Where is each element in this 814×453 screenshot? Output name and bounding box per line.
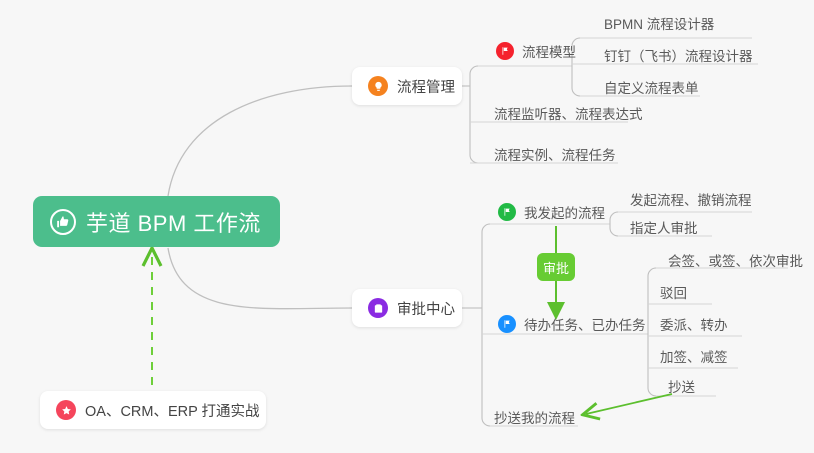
node-reject[interactable]: 驳回 <box>654 278 695 306</box>
connector-root-to-process-management <box>168 86 352 196</box>
node-label-start-cancel-process: 发起流程、撤销流程 <box>630 189 752 209</box>
bottom-note-label: OA、CRM、ERP 打通实战 <box>85 400 260 421</box>
branch-label-approval-center: 审批中心 <box>397 298 455 319</box>
node-bpmn-designer[interactable]: BPMN 流程设计器 <box>598 9 722 37</box>
node-cc[interactable]: 抄送 <box>662 372 703 400</box>
branch-label-process-management: 流程管理 <box>397 76 455 97</box>
node-label-delegate-transfer: 委派、转办 <box>660 314 728 334</box>
node-start-cancel-process[interactable]: 发起流程、撤销流程 <box>624 185 760 213</box>
node-dingtalk-designer[interactable]: 钉钉（飞书）流程设计器 <box>598 41 761 69</box>
node-label-bpmn-designer: BPMN 流程设计器 <box>604 13 714 33</box>
node-label-cc-my-process: 抄送我的流程 <box>494 407 575 427</box>
node-label-todo-done-tasks: 待办任务、已办任务 <box>524 314 646 334</box>
node-countersign[interactable]: 会签、或签、依次审批 <box>662 246 811 274</box>
node-label-dingtalk-designer: 钉钉（飞书）流程设计器 <box>604 45 753 65</box>
node-custom-form[interactable]: 自定义流程表单 <box>598 73 707 101</box>
node-label-process-instance: 流程实例、流程任务 <box>494 144 616 164</box>
approval-badge-label: 审批 <box>543 258 569 277</box>
flag-icon <box>496 42 514 60</box>
mindmap-canvas: 芋道 BPM 工作流 流程管理 审批中心 流程模型 BPMN 流程设计器 <box>0 0 814 453</box>
bottom-note-card[interactable]: OA、CRM、ERP 打通实战 <box>40 391 266 429</box>
connector-ac-spine <box>482 224 490 426</box>
node-assignee-approve[interactable]: 指定人审批 <box>624 213 706 241</box>
approval-badge[interactable]: 审批 <box>537 253 575 281</box>
node-label-assignee-approve: 指定人审批 <box>630 217 698 237</box>
arrow-cc-to-cc-my-process <box>586 394 672 414</box>
node-label-process-listener: 流程监听器、流程表达式 <box>494 103 643 123</box>
root-node[interactable]: 芋道 BPM 工作流 <box>33 196 280 247</box>
branch-card-process-management[interactable]: 流程管理 <box>352 67 462 105</box>
root-label: 芋道 BPM 工作流 <box>86 206 261 238</box>
lightbulb-icon <box>368 76 388 96</box>
node-label-process-model: 流程模型 <box>522 41 576 61</box>
connector-pm-spine <box>470 66 478 163</box>
node-my-initiated[interactable]: 我发起的流程 <box>492 198 613 226</box>
node-add-remove-sign[interactable]: 加签、减签 <box>654 342 736 370</box>
node-todo-done-tasks[interactable]: 待办任务、已办任务 <box>492 310 654 338</box>
thumbs-up-icon <box>50 209 76 235</box>
node-cc-my-process[interactable]: 抄送我的流程 <box>488 403 583 431</box>
node-label-my-initiated: 我发起的流程 <box>524 202 605 222</box>
flag-icon <box>498 203 516 221</box>
node-label-countersign: 会签、或签、依次审批 <box>668 250 803 270</box>
branch-card-approval-center[interactable]: 审批中心 <box>352 289 462 327</box>
node-delegate-transfer[interactable]: 委派、转办 <box>654 310 736 338</box>
node-process-model[interactable]: 流程模型 <box>490 37 584 65</box>
node-label-add-remove-sign: 加签、减签 <box>660 346 728 366</box>
node-label-reject: 驳回 <box>660 282 687 302</box>
connector-root-to-approval-center <box>168 248 352 309</box>
clipboard-icon <box>368 298 388 318</box>
node-process-instance[interactable]: 流程实例、流程任务 <box>488 140 624 168</box>
node-label-custom-form: 自定义流程表单 <box>604 77 699 97</box>
star-icon <box>56 400 76 420</box>
node-process-listener[interactable]: 流程监听器、流程表达式 <box>488 99 651 127</box>
flag-icon <box>498 315 516 333</box>
node-label-cc: 抄送 <box>668 376 695 396</box>
